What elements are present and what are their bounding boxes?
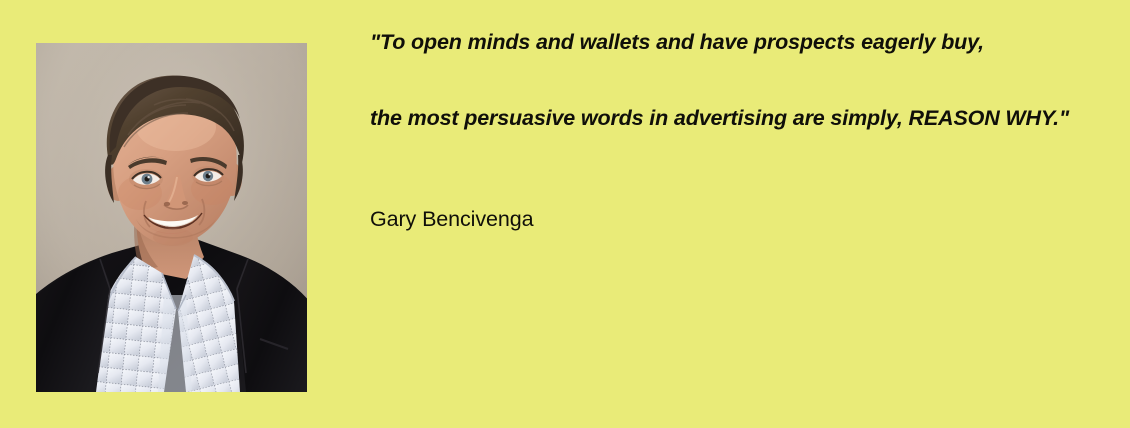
portrait-illustration: [36, 43, 307, 392]
quote-slide: "To open minds and wallets and have pros…: [0, 0, 1130, 428]
portrait-photo: [36, 43, 307, 392]
quote-line-1: "To open minds and wallets and have pros…: [370, 27, 1085, 58]
quote-line-2: the most persuasive words in advertising…: [370, 103, 1076, 134]
quote-attribution: Gary Bencivenga: [370, 205, 533, 233]
quote-text-column: "To open minds and wallets and have pros…: [370, 0, 1090, 428]
